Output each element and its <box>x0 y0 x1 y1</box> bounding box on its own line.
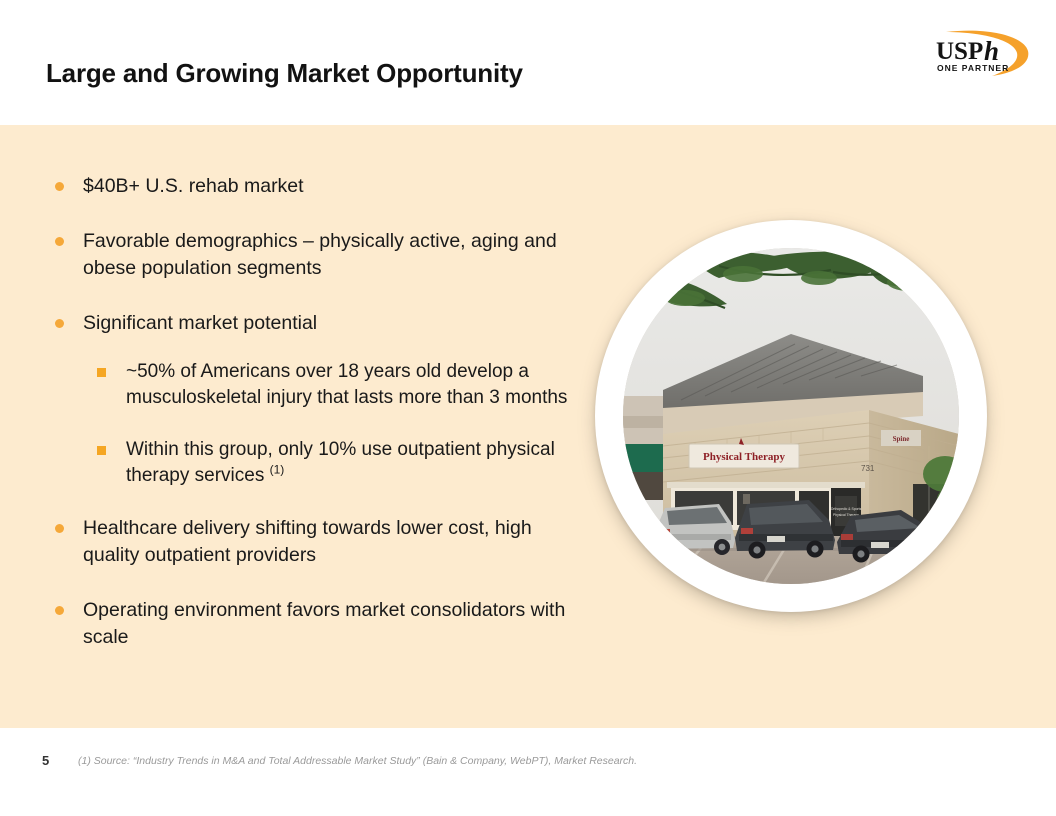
slide-header: Large and Growing Market Opportunity USP… <box>0 0 1056 125</box>
page-number: 5 <box>42 753 49 768</box>
list-item: Significant market potential <box>55 310 575 337</box>
content-panel: $40B+ U.S. rehab market Favorable demogr… <box>0 125 1056 728</box>
list-item-text: Favorable demographics – physically acti… <box>83 228 575 282</box>
page-title: Large and Growing Market Opportunity <box>46 58 523 89</box>
list-item-text: Significant market potential <box>83 310 317 337</box>
svg-text:USP: USP <box>936 38 983 65</box>
list-item: Within this group, only 10% use outpatie… <box>97 437 575 489</box>
bullet-dot-icon <box>55 182 64 191</box>
svg-text:ONE PARTNER: ONE PARTNER <box>937 63 1009 73</box>
footnote-marker: (1) <box>270 463 285 477</box>
list-item-text: Healthcare delivery shifting towards low… <box>83 515 575 569</box>
list-item: Healthcare delivery shifting towards low… <box>55 515 575 569</box>
bullet-dot-icon <box>55 319 64 328</box>
list-item-text: Operating environment favors market cons… <box>83 597 575 651</box>
bullet-dot-icon <box>55 524 64 533</box>
svg-text:Orthopedic & Sports: Orthopedic & Sports <box>831 507 862 511</box>
photo-image: Physical Therapy 731 Orthopedic & Sports… <box>623 248 959 584</box>
svg-text:Spine: Spine <box>893 435 910 443</box>
bullet-dot-icon <box>55 237 64 246</box>
list-item: Favorable demographics – physically acti… <box>55 228 575 282</box>
list-item: ~50% of Americans over 18 years old deve… <box>97 359 575 411</box>
svg-text:731: 731 <box>861 464 875 473</box>
list-item-text: ~50% of Americans over 18 years old deve… <box>126 359 575 411</box>
clinic-photo: Physical Therapy 731 Orthopedic & Sports… <box>595 220 987 612</box>
list-item-text: Within this group, only 10% use outpatie… <box>126 437 575 489</box>
footnote-source: (1) Source: “Industry Trends in M&A and … <box>78 755 637 767</box>
list-item-body: Within this group, only 10% use outpatie… <box>126 439 555 486</box>
sub-bullet-group: ~50% of Americans over 18 years old deve… <box>55 359 575 489</box>
svg-text:h: h <box>984 36 999 66</box>
bullet-list: $40B+ U.S. rehab market Favorable demogr… <box>55 173 575 679</box>
bullet-dot-icon <box>55 606 64 615</box>
usph-logo: USP h ONE PARTNER <box>918 26 1036 80</box>
list-item-text: $40B+ U.S. rehab market <box>83 173 304 200</box>
list-item: $40B+ U.S. rehab market <box>55 173 575 200</box>
slide-footer: 5 (1) Source: “Industry Trends in M&A an… <box>0 728 1056 816</box>
bullet-square-icon <box>97 368 106 377</box>
list-item: Operating environment favors market cons… <box>55 597 575 651</box>
svg-text:Physical Therapy: Physical Therapy <box>703 451 786 463</box>
slide: Large and Growing Market Opportunity USP… <box>0 0 1056 816</box>
bullet-square-icon <box>97 446 106 455</box>
